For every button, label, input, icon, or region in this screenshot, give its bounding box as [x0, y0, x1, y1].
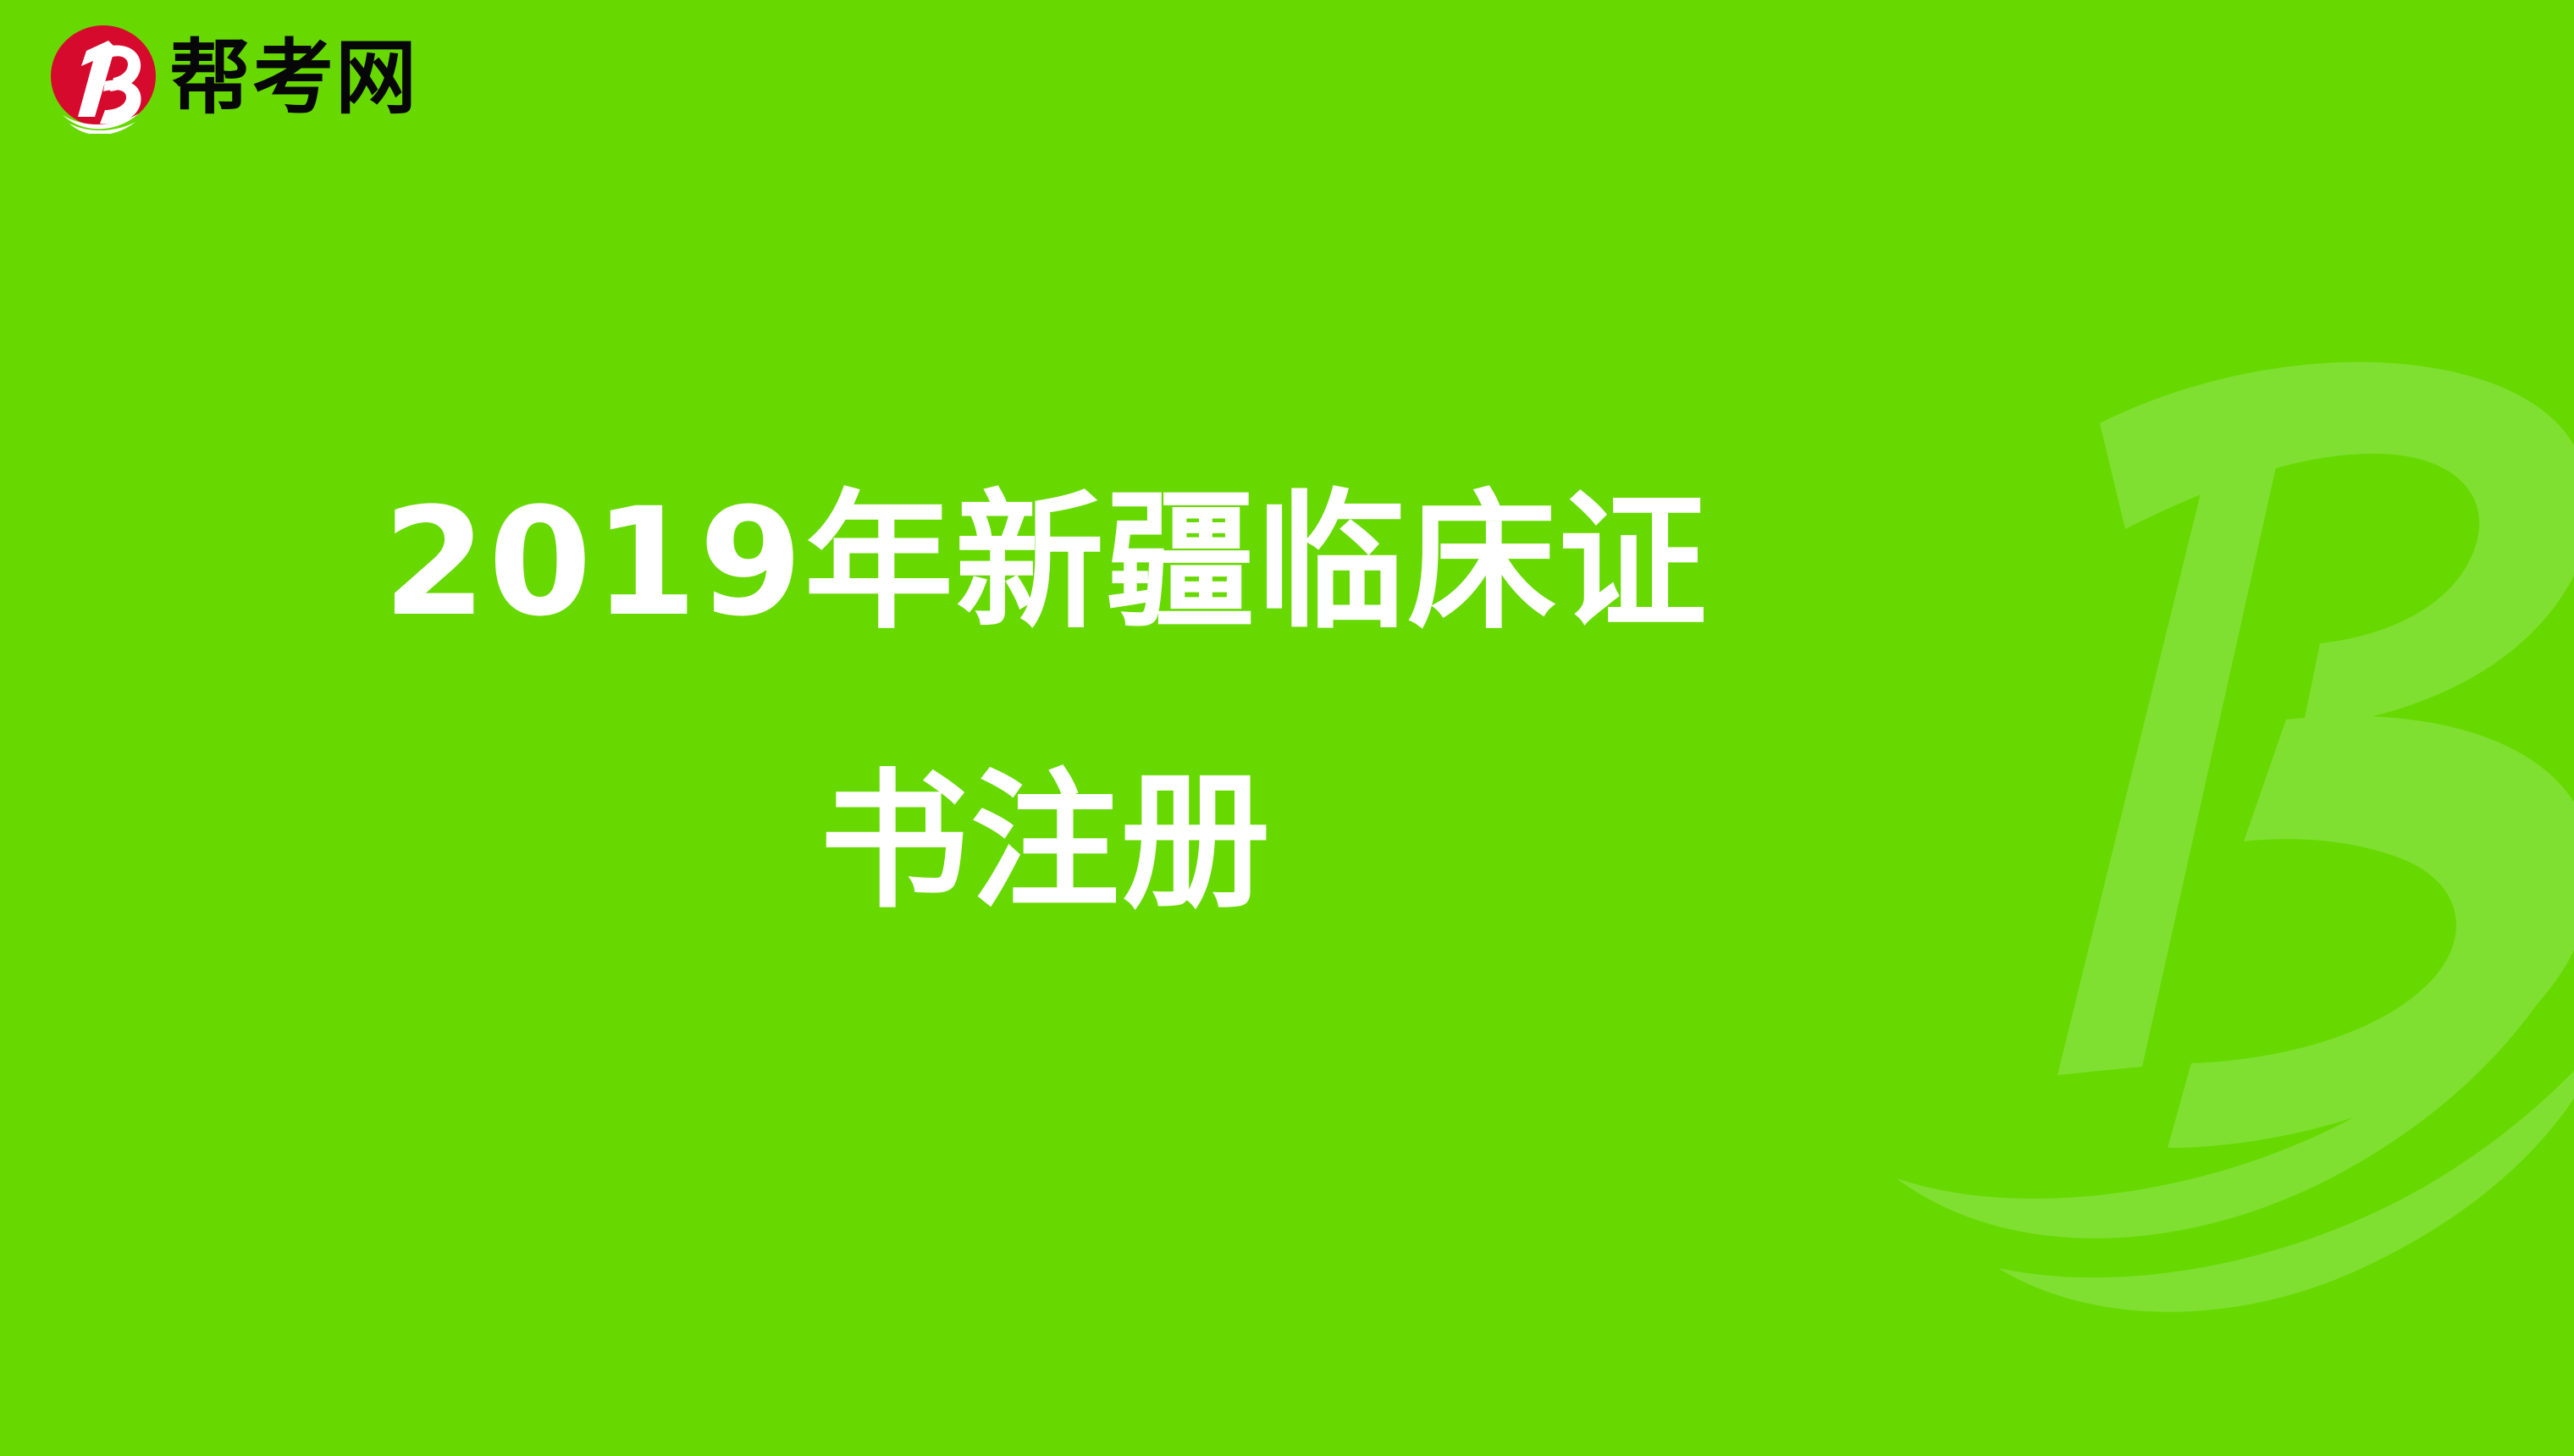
headline-line-1: 2019年新疆临床证 [0, 471, 2091, 655]
promo-banner: 帮考网 2019年新疆临床证 书注册 [0, 0, 2574, 1456]
headline-line-2: 书注册 [0, 750, 2091, 935]
brand-wordmark: 帮考网 [169, 37, 418, 119]
brand-logo[interactable]: 帮考网 [47, 22, 418, 134]
headline: 2019年新疆临床证 书注册 [0, 471, 2091, 935]
brand-mark-icon [47, 22, 159, 134]
